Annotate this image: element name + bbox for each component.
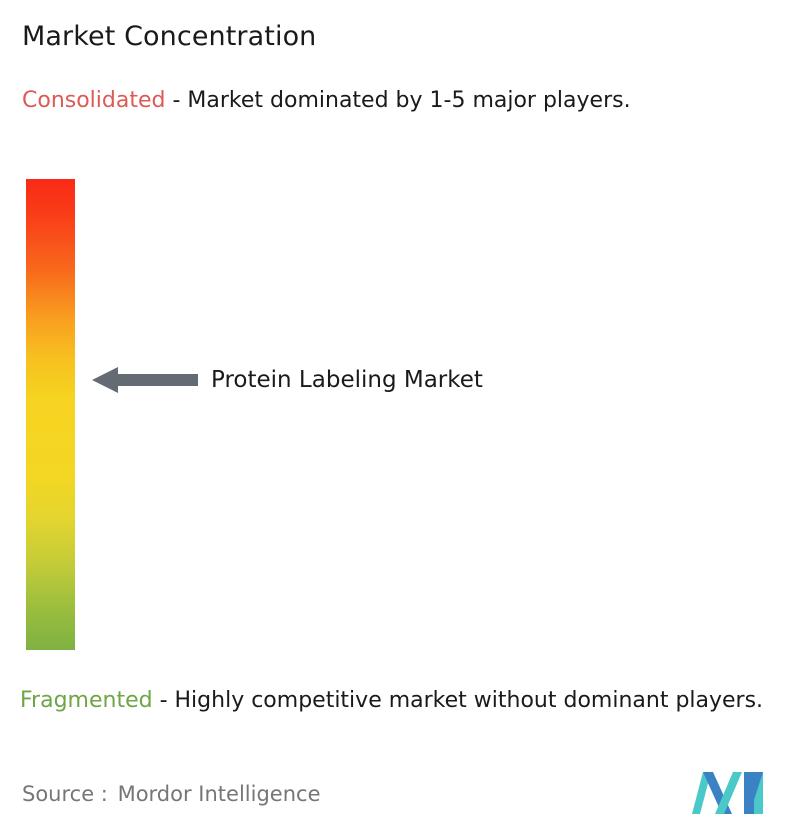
legend-consolidated-description: - Market dominated by 1-5 major players.	[165, 88, 630, 113]
page-title: Market Concentration	[22, 20, 316, 54]
market-position-marker: Protein Labeling Market	[92, 364, 483, 396]
left-arrow-icon	[92, 364, 198, 396]
legend-consolidated: Consolidated - Market dominated by 1-5 m…	[22, 86, 774, 116]
market-position-label: Protein Labeling Market	[211, 365, 483, 395]
source-label: Source :	[22, 782, 108, 806]
legend-fragmented-description: - Highly competitive market without domi…	[153, 688, 763, 713]
source-attribution: Source : Mordor Intelligence	[22, 780, 320, 808]
legend-consolidated-keyword: Consolidated	[22, 88, 165, 113]
mordor-intelligence-logo-icon	[692, 768, 766, 818]
legend-fragmented-keyword: Fragmented	[20, 688, 153, 713]
market-concentration-chart: Market Concentration Consolidated - Mark…	[0, 0, 796, 834]
concentration-gradient-bar	[26, 179, 75, 650]
legend-fragmented: Fragmented - Highly competitive market w…	[20, 686, 788, 716]
source-value: Mordor Intelligence	[118, 782, 321, 806]
